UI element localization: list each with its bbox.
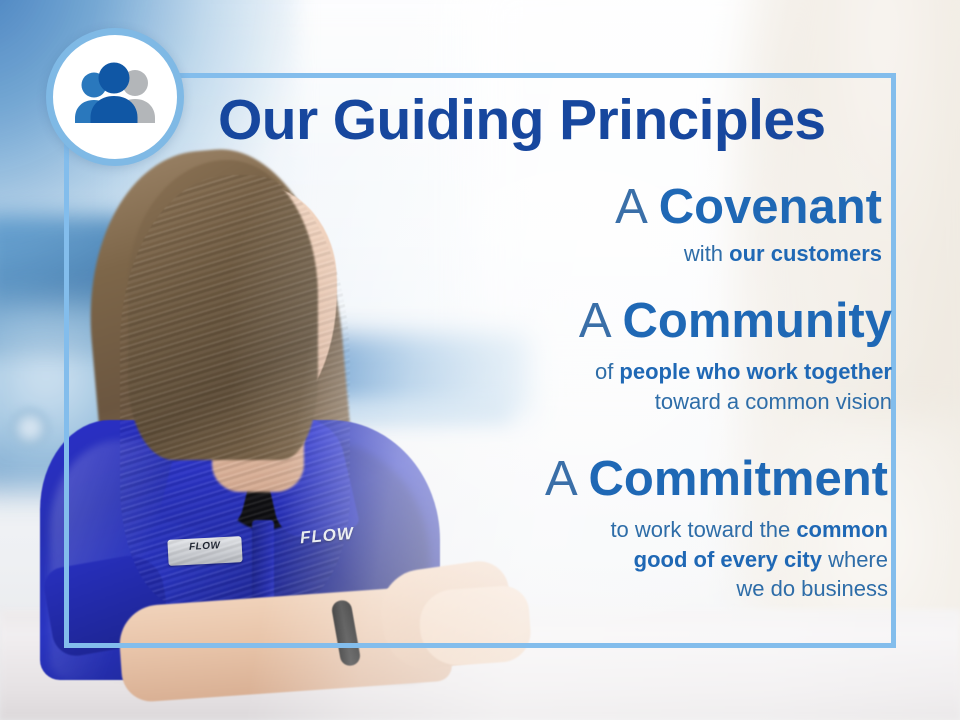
principle-block-covenant: A Covenant with our customers <box>615 183 882 267</box>
principle-emphasis: our customers <box>729 241 882 266</box>
principle-block-community: A Community of people who work togethert… <box>579 297 892 416</box>
principle-keyword: Covenant <box>659 180 882 234</box>
principle-emphasis: good of every city <box>634 547 822 572</box>
principle-heading: A Covenant <box>615 183 882 233</box>
principle-block-commitment: A Commitment to work toward the commongo… <box>545 455 888 604</box>
principle-subtext: with our customers <box>615 241 882 267</box>
principle-article: A <box>579 294 623 348</box>
group-of-people-icon <box>46 28 184 166</box>
principle-emphasis: people who work together <box>619 359 892 384</box>
principle-text: to work toward the <box>610 517 796 542</box>
principle-subtext-line: good of every city where <box>545 545 888 575</box>
principle-heading: A Community <box>579 297 892 347</box>
principle-text: toward a common vision <box>655 389 892 414</box>
principle-subtext-line: toward a common vision <box>579 387 892 417</box>
principle-text: where <box>822 547 888 572</box>
principle-article: A <box>545 452 589 506</box>
page-title: Our Guiding Principles <box>218 92 878 149</box>
principle-article: A <box>615 180 659 234</box>
group-of-people-glyph <box>67 61 163 133</box>
principle-subtext-line: to work toward the common <box>545 515 888 545</box>
guiding-principles-banner: FLOW <box>0 0 960 720</box>
principle-subtext-line: with our customers <box>615 241 882 267</box>
principle-emphasis: common <box>796 517 888 542</box>
principle-subtext-line: we do business <box>545 574 888 604</box>
principle-text: of <box>595 359 619 384</box>
principle-keyword: Commitment <box>589 452 888 506</box>
principle-subtext: of people who work togethertoward a comm… <box>579 357 892 416</box>
principle-text: we do business <box>736 576 888 601</box>
principle-subtext: to work toward the commongood of every c… <box>545 515 888 604</box>
principle-subtext-line: of people who work together <box>579 357 892 387</box>
principle-text: with <box>684 241 729 266</box>
principle-heading: A Commitment <box>545 455 888 505</box>
principle-keyword: Community <box>623 294 893 348</box>
